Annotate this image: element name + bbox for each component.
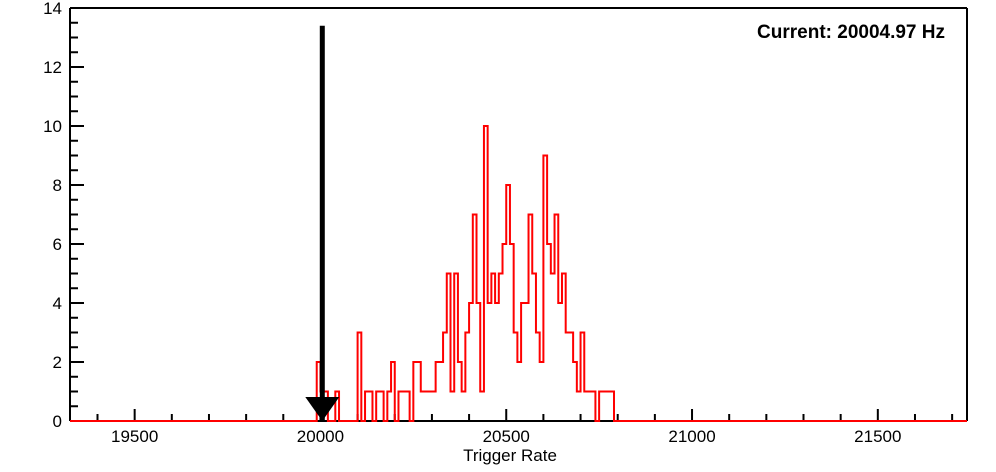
- current-rate-readout: Current: 20004.97 Hz: [757, 22, 945, 43]
- x-axis-title: Trigger Rate: [463, 446, 557, 465]
- y-tick-label: 2: [53, 353, 62, 372]
- x-tick-label: 19500: [111, 427, 158, 446]
- x-axis-ticks: [97, 409, 952, 421]
- x-tick-label: 21500: [854, 427, 901, 446]
- x-axis-tick-labels: 1950020000205002100021500: [111, 427, 901, 446]
- x-tick-label: 20500: [483, 427, 530, 446]
- histogram-canvas: 02468101214 1950020000205002100021500 Tr…: [0, 0, 996, 472]
- x-tick-label: 20000: [297, 427, 344, 446]
- trigger-rate-histogram: 02468101214 1950020000205002100021500 Tr…: [0, 0, 996, 472]
- y-tick-label: 0: [53, 412, 62, 431]
- y-axis-tick-labels: 02468101214: [43, 0, 62, 431]
- current-rate-arrow: [305, 26, 339, 421]
- y-tick-label: 8: [53, 176, 62, 195]
- x-tick-label: 21000: [668, 427, 715, 446]
- plot-frame: [70, 8, 967, 421]
- y-tick-label: 10: [43, 117, 62, 136]
- y-tick-label: 14: [43, 0, 62, 18]
- y-tick-label: 12: [43, 58, 62, 77]
- y-tick-label: 6: [53, 235, 62, 254]
- arrow-head: [305, 397, 339, 421]
- histogram-outline: [70, 126, 967, 421]
- y-axis-ticks: [70, 8, 84, 421]
- histogram-step-line: [70, 126, 967, 421]
- y-tick-label: 4: [53, 294, 62, 313]
